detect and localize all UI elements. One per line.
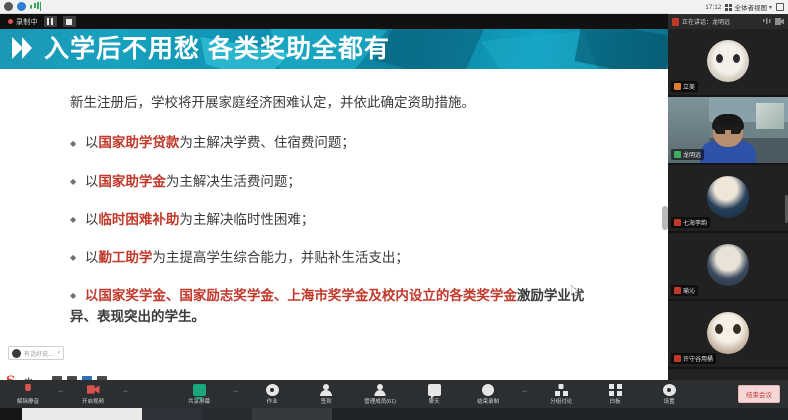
share-screen-icon [193,384,206,396]
whiteboard-label: 白板 [610,397,621,405]
record-options-caret-icon[interactable]: ︿ [522,387,527,394]
participant-name-badge: 立美 [671,81,698,92]
participant-name-badge: 七海李韵 [671,217,710,228]
mic-muted-icon [674,219,681,226]
bullet-suffix: 为主解决生活费问题； [166,174,301,189]
bullet-prefix: 以 [85,288,99,303]
end-meeting-button[interactable]: 结束会议 [738,385,780,403]
record-button[interactable]: 结束录制 [468,384,508,405]
toolbar-left-group: 解除静音 ︿ 开启视频 ︿ [0,384,179,405]
participant-name: 许守谷用桶 [683,354,713,363]
active-speaker-bar: 正在讲话：龙明远 [668,14,788,29]
clock-label: 17:12 [705,4,721,11]
meeting-screen: 录制中 入学后不用愁 各类奖助全都有 新生注册 [0,0,788,420]
record-icon [482,384,494,396]
slide-title: 入学后不用愁 各类奖助全都有 [44,33,390,65]
participant-name: 立美 [683,82,695,91]
bullet-highlight: 临时困难补助 [98,212,179,227]
mic-muted-icon [674,83,681,90]
mic-options-caret-icon[interactable]: ︿ [58,387,63,394]
mute-toggle-label: 解除静音 [17,397,39,405]
grid-view-icon [725,4,732,11]
homework-button[interactable]: 作业 [252,384,292,405]
pause-recording-button[interactable] [44,16,57,27]
slide-title-banner: 入学后不用愁 各类奖助全都有 [0,29,668,69]
chevron-down-icon: ▾ [769,4,772,11]
participant-name: 龙明远 [683,150,701,159]
slide-bullet: 以临时困难补助为主解决临时性困难； [70,210,668,230]
recording-status-label: 录制中 [16,17,38,27]
participant-tile[interactable]: 七海李韵 [668,165,788,233]
whiteboard-button[interactable]: 白板 [595,384,635,405]
mic-muted-icon [22,384,35,396]
mic-muted-icon [674,355,681,362]
camera-options-caret-icon[interactable]: ︿ [123,387,128,394]
chat-placeholder: 有话好说... [24,349,55,358]
slide-chat-widget[interactable]: 有话好说... ‹ [8,346,64,360]
toolbar-center-group: 共享屏幕 ︿ 作业 签到 管理成员(61) 聊天 结束录制 [179,384,689,405]
pause-icon [47,18,53,25]
slide-body: 新生注册后，学校将开展家庭经济困难认定，并依此确定资助措施。 以国家助学贷款为主… [0,69,668,328]
participant-name-badge: 许守谷用桶 [671,353,716,364]
mute-toggle-button[interactable]: 解除静音 [8,384,48,405]
taskbar-start-button[interactable] [0,408,22,420]
os-taskbar [0,408,788,420]
slide-bullet-emphasis: 以国家奖学金、国家励志奖学金、上海市奖学金及校内设立的各类奖学金激励学业优异、表… [70,286,610,328]
camera-off-icon [87,384,100,396]
taskbar-item[interactable] [142,408,202,420]
manage-members-label: 管理成员(61) [364,397,396,405]
participant-name: 瑜沁 [683,286,695,295]
homework-label: 作业 [267,397,278,405]
chevron-right-icon[interactable]: ‹ [58,350,60,356]
checkin-icon [320,384,333,396]
taskbar-item[interactable] [252,408,332,420]
shared-screen-region: 录制中 入学后不用愁 各类奖助全都有 新生注册 [0,14,668,392]
breakout-rooms-icon [555,384,568,396]
rail-header: 17:12 全体者视图 ▾ [668,0,788,14]
manage-members-icon [374,384,387,396]
avatar [707,176,749,218]
bullet-highlight: 国家助学金 [98,174,166,189]
recording-control-bar: 录制中 [0,14,668,29]
checkin-button[interactable]: 签到 [306,384,346,405]
chat-bubble-icon [12,349,21,358]
bullet-highlight: 勤工助学 [98,250,152,265]
mic-active-icon [674,151,681,158]
slide-bullet: 以国家助学金为主解决生活费问题； [70,172,668,192]
toolbar-right-group: 结束会议 [689,385,788,403]
audio-wave-icon [763,18,772,26]
bluetooth-icon[interactable] [17,2,26,11]
participant-name: 七海李韵 [683,218,707,227]
active-speaker-label: 正在讲话：龙明远 [682,17,760,26]
bullet-prefix: 以 [85,135,99,150]
avatar [707,312,749,354]
slide-bullet: 以国家助学贷款为主解决学费、住宿费问题； [70,133,668,153]
homework-icon [266,384,279,396]
recording-status: 录制中 [8,17,38,27]
participant-tile[interactable]: 瑜沁 [668,233,788,301]
taskbar-item[interactable] [202,408,252,420]
view-mode-selector[interactable]: 全体者视图 ▾ [725,2,772,12]
participant-name-badge: 瑜沁 [671,285,698,296]
participant-tile[interactable]: 立美 [668,29,788,97]
checkin-label: 签到 [321,397,332,405]
slide-logo-icon [12,37,36,59]
system-tray-strip [0,0,668,14]
chat-button[interactable]: 聊天 [414,384,454,405]
breakout-rooms-label: 分组讨论 [550,397,572,405]
signal-bars-icon[interactable] [30,2,41,11]
banner-polygon [574,29,668,69]
whiteboard-icon [609,384,622,396]
bullet-prefix: 以 [85,174,99,189]
video-toggle-label: 开启视频 [82,397,104,405]
breakout-rooms-button[interactable]: 分组讨论 [541,384,581,405]
avatar [707,40,749,82]
meeting-toolbar: 解除静音 ︿ 开启视频 ︿ 共享屏幕 ︿ 作业 签到 [0,380,788,408]
participant-name-badge: 龙明远 [671,149,704,160]
participant-rail: 17:12 全体者视图 ▾ 正在讲话：龙明远 立美 [668,0,788,392]
share-screen-button[interactable]: 共享屏幕 [179,384,219,405]
manage-members-button[interactable]: 管理成员(61) [360,384,400,405]
share-options-caret-icon[interactable]: ︿ [233,387,238,394]
participant-tile[interactable]: 许守谷用桶 [668,301,788,369]
view-mode-label: 全体者视图 [734,2,767,12]
settings-button[interactable]: 设置 [649,384,689,405]
slide-intro-text: 新生注册后，学校将开展家庭经济困难认定，并依此确定资助措施。 [70,93,668,113]
speaker-avatar-icon [672,18,679,26]
chat-icon [428,384,441,396]
avatar [707,244,749,286]
stop-recording-button[interactable] [63,16,76,27]
bullet-suffix: 为主提高学生综合能力，并贴补生活支出； [152,250,409,265]
participant-tile[interactable]: 龙明远 [668,97,788,165]
record-label: 结束录制 [477,397,499,405]
settings-gear-icon [663,384,676,396]
settings-label: 设置 [664,397,675,405]
slide-bullet: 以勤工助学为主提高学生综合能力，并贴补生活支出； [70,248,668,268]
banner-polygon [374,29,484,69]
mouse-cursor-icon [571,285,579,296]
bullet-suffix: 为主解决临时性困难； [179,212,314,227]
info-icon[interactable] [4,2,13,11]
expand-icon[interactable] [776,3,784,11]
taskbar-item[interactable] [22,408,142,420]
video-toggle-button[interactable]: 开启视频 [73,384,113,405]
bullet-highlight: 国家奖学金、国家励志奖学金、上海市奖学金及校内设立的各类奖学金 [98,288,517,303]
recording-dot-icon [8,19,13,24]
stop-icon [66,19,72,25]
mic-muted-icon [674,287,681,294]
bullet-highlight: 国家助学贷款 [98,135,179,150]
camera-icon [775,18,784,25]
bullet-prefix: 以 [85,212,99,227]
presentation-slide: 入学后不用愁 各类奖助全都有 新生注册后，学校将开展家庭经济困难认定，并依此确定… [0,29,668,377]
bullet-suffix: 为主解决学费、住宿费问题； [179,135,355,150]
bullet-prefix: 以 [85,250,99,265]
